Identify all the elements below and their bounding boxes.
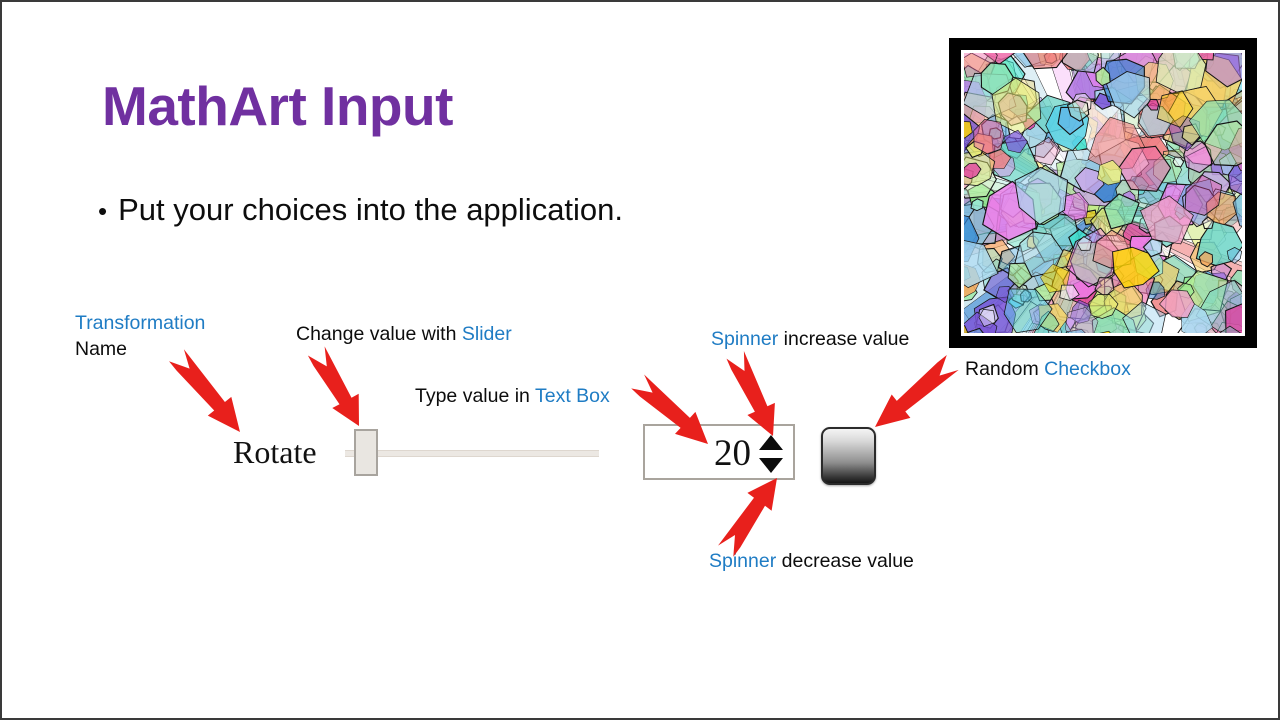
slider-thumb[interactable] xyxy=(354,429,378,476)
bullet-marker-icon: • xyxy=(98,198,107,224)
callout-random-checkbox: Random Checkbox xyxy=(965,356,1131,382)
callout-text: decrease value xyxy=(776,550,914,572)
callout-text-box: Type value in Text Box xyxy=(415,383,610,409)
callout-text: increase value xyxy=(778,328,909,350)
callout-keyword: Spinner xyxy=(711,328,778,350)
triangle-down-icon[interactable] xyxy=(759,458,783,473)
callout-keyword: Text Box xyxy=(535,385,610,407)
callout-keyword: Checkbox xyxy=(1044,358,1131,380)
slider-track[interactable] xyxy=(345,450,599,457)
value-slider[interactable] xyxy=(345,450,599,457)
mathart-image-frame xyxy=(949,38,1257,348)
callout-slider: Change value with Slider xyxy=(296,321,512,347)
page-title: MathArt Input xyxy=(102,74,453,138)
arrow-to-spinner-decrease xyxy=(718,478,777,557)
callout-keyword: Spinner xyxy=(709,550,776,572)
callout-text: Change value with xyxy=(296,323,462,345)
callout-keyword: Transformation xyxy=(75,312,205,334)
callout-spinner-decrease: Spinner decrease value xyxy=(709,548,914,574)
arrow-to-slider xyxy=(308,346,359,426)
mathart-image-inner-border xyxy=(961,50,1245,336)
callout-text: Random xyxy=(965,358,1044,380)
bullet-list-item: • Put your choices into the application. xyxy=(98,192,623,228)
callout-spinner-increase: Spinner increase value xyxy=(711,326,909,352)
triangle-up-icon[interactable] xyxy=(759,435,783,450)
bullet-text: Put your choices into the application. xyxy=(118,192,623,228)
callout-transformation-name: Transformation Name xyxy=(75,310,205,363)
spinner-text-box[interactable]: 20 xyxy=(643,424,795,480)
slide-canvas: MathArt Input • Put your choices into th… xyxy=(0,0,1280,720)
callout-text: Type value in xyxy=(415,385,535,407)
arrow-to-checkbox xyxy=(875,355,959,427)
callout-text: Name xyxy=(75,338,127,360)
callout-keyword: Slider xyxy=(462,323,512,345)
random-checkbox-button[interactable] xyxy=(821,427,876,485)
transformation-name-label: Rotate xyxy=(233,434,317,471)
spinner-value-text[interactable]: 20 xyxy=(714,433,751,475)
spinner-buttons[interactable] xyxy=(757,434,785,474)
mathart-generated-image xyxy=(964,53,1242,333)
